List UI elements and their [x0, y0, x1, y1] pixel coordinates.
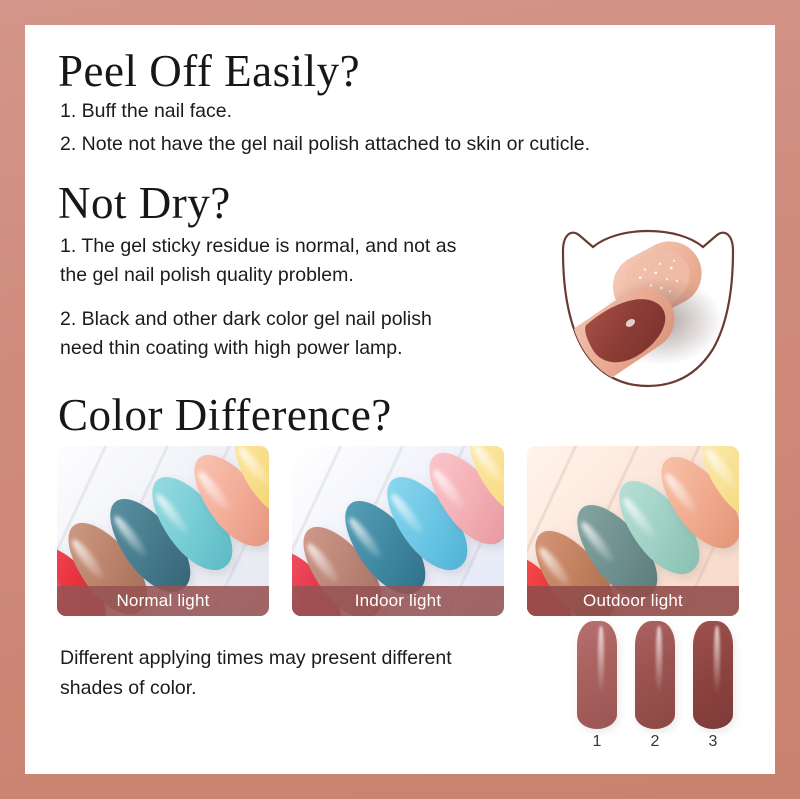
numbered-nail-tips: 1 2 3	[565, 621, 755, 761]
content-card: Peel Off Easily? 1. Buff the nail face. …	[25, 25, 775, 774]
heading-not-dry: Not Dry?	[58, 177, 231, 229]
swatch-label-normal-light: Normal light	[57, 586, 269, 616]
nail-tip-3	[693, 621, 733, 729]
swatch-panel-indoor-light: Indoor light	[292, 446, 504, 616]
heading-color-difference: Color Difference?	[58, 389, 392, 441]
not-dry-step-1-line-2: the gel nail polish quality problem.	[60, 264, 354, 287]
nail-tip-number-2: 2	[635, 733, 675, 751]
not-dry-step-2-line-1: 2. Black and other dark color gel nail p…	[60, 308, 432, 331]
swatch-label-outdoor-light: Outdoor light	[527, 586, 739, 616]
closing-note-line-1: Different applying times may present dif…	[60, 647, 452, 670]
swatch-panel-normal-light: Normal light	[57, 446, 269, 616]
nail-tip-number-1: 1	[577, 733, 617, 751]
not-dry-step-2-line-2: need thin coating with high power lamp.	[60, 337, 403, 360]
not-dry-step-1-line-1: 1. The gel sticky residue is normal, and…	[60, 235, 456, 258]
peel-off-step-2: 2. Note not have the gel nail polish att…	[60, 133, 590, 156]
nail-tip-2	[635, 621, 675, 729]
closing-note-line-2: shades of color.	[60, 677, 197, 700]
heading-peel-off-easily: Peel Off Easily?	[58, 45, 360, 97]
nail-tip-number-3: 3	[693, 733, 733, 751]
infographic-page: Peel Off Easily? 1. Buff the nail face. …	[0, 0, 800, 799]
nail-tip-1	[577, 621, 617, 729]
swatch-label-indoor-light: Indoor light	[292, 586, 504, 616]
two-fingers-illustration	[553, 225, 743, 390]
peel-off-step-1: 1. Buff the nail face.	[60, 100, 232, 123]
swatch-panel-outdoor-light: Outdoor light	[527, 446, 739, 616]
